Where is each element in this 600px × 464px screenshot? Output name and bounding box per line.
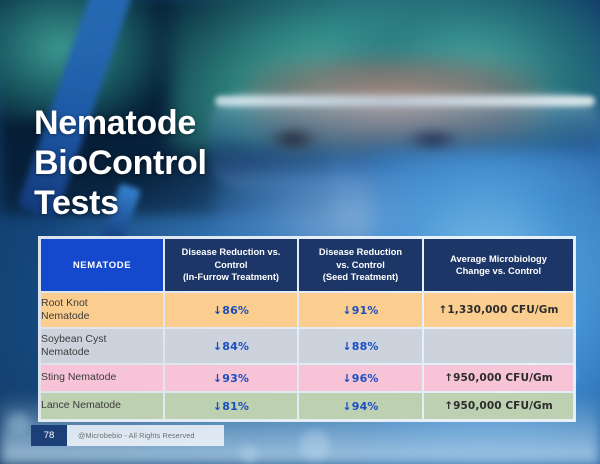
cell-microbiology: ↑950,000 CFU/Gm (424, 393, 573, 419)
row-label-sting: Sting Nematode (41, 365, 163, 391)
cell-seed-treatment: ↓88% (299, 329, 422, 363)
cell-microbiology: ↑1,330,000 CFU/Gm (424, 293, 573, 327)
column-header-in-furrow: Disease Reduction vs. Control (In-Furrow… (165, 239, 297, 291)
header-line: Change vs. Control (424, 265, 573, 277)
page-number-badge: 78 (31, 425, 67, 446)
cell-microbiology: ↑950,000 CFU/Gm (424, 365, 573, 391)
row-label-line: Soybean Cyst (41, 333, 163, 346)
cell-in-furrow: ↓93% (165, 365, 297, 391)
row-label-line: Root Knot (41, 297, 163, 310)
row-label-lance: Lance Nematode (41, 393, 163, 419)
table-row: Root Knot Nematode ↓86% ↓91% ↑1,330,000 … (41, 293, 573, 327)
cell-seed-treatment: ↓94% (299, 393, 422, 419)
row-label-line: Lance Nematode (41, 399, 163, 412)
copyright-text: @Microbebio - All Rights Reserved (67, 431, 195, 440)
slide-canvas: Nematode BioControl Tests NEMATODE Disea… (0, 0, 600, 464)
table-row: Lance Nematode ↓81% ↓94% ↑950,000 CFU/Gm (41, 393, 573, 419)
cell-seed-treatment: ↓96% (299, 365, 422, 391)
header-line: Control (165, 259, 297, 271)
nematode-results-table: NEMATODE Disease Reduction vs. Control (… (38, 236, 568, 422)
cell-seed-treatment: ↓91% (299, 293, 422, 327)
title-line-2: BioControl (34, 144, 334, 184)
slide-title: Nematode BioControl Tests (34, 104, 334, 223)
header-line: (In-Furrow Treatment) (165, 271, 297, 283)
cell-microbiology (424, 329, 573, 363)
row-label-line: Sting Nematode (41, 371, 163, 384)
table-header-row: NEMATODE Disease Reduction vs. Control (… (41, 239, 573, 291)
column-header-nematode: NEMATODE (41, 239, 163, 291)
title-line-3: Tests (34, 184, 334, 224)
column-header-seed-treatment: Disease Reduction vs. Control (Seed Trea… (299, 239, 422, 291)
row-label-line: Nematode (41, 346, 163, 359)
row-label-soybean-cyst: Soybean Cyst Nematode (41, 329, 163, 363)
column-header-microbiology: Average Microbiology Change vs. Control (424, 239, 573, 291)
title-line-1: Nematode (34, 104, 334, 144)
slide-footer: 78 @Microbebio - All Rights Reserved (31, 425, 224, 446)
row-label-line: Nematode (41, 310, 163, 323)
table-row: Sting Nematode ↓93% ↓96% ↑950,000 CFU/Gm (41, 365, 573, 391)
header-line: vs. Control (299, 259, 422, 271)
table-row: Soybean Cyst Nematode ↓84% ↓88% (41, 329, 573, 363)
header-line: Disease Reduction (299, 246, 422, 258)
column-header-nematode-label: NEMATODE (73, 260, 131, 271)
header-line: Disease Reduction vs. (165, 246, 297, 258)
cell-in-furrow: ↓84% (165, 329, 297, 363)
header-line: (Seed Treatment) (299, 271, 422, 283)
header-line: Average Microbiology (424, 253, 573, 265)
cell-in-furrow: ↓81% (165, 393, 297, 419)
row-label-root-knot: Root Knot Nematode (41, 293, 163, 327)
cell-in-furrow: ↓86% (165, 293, 297, 327)
